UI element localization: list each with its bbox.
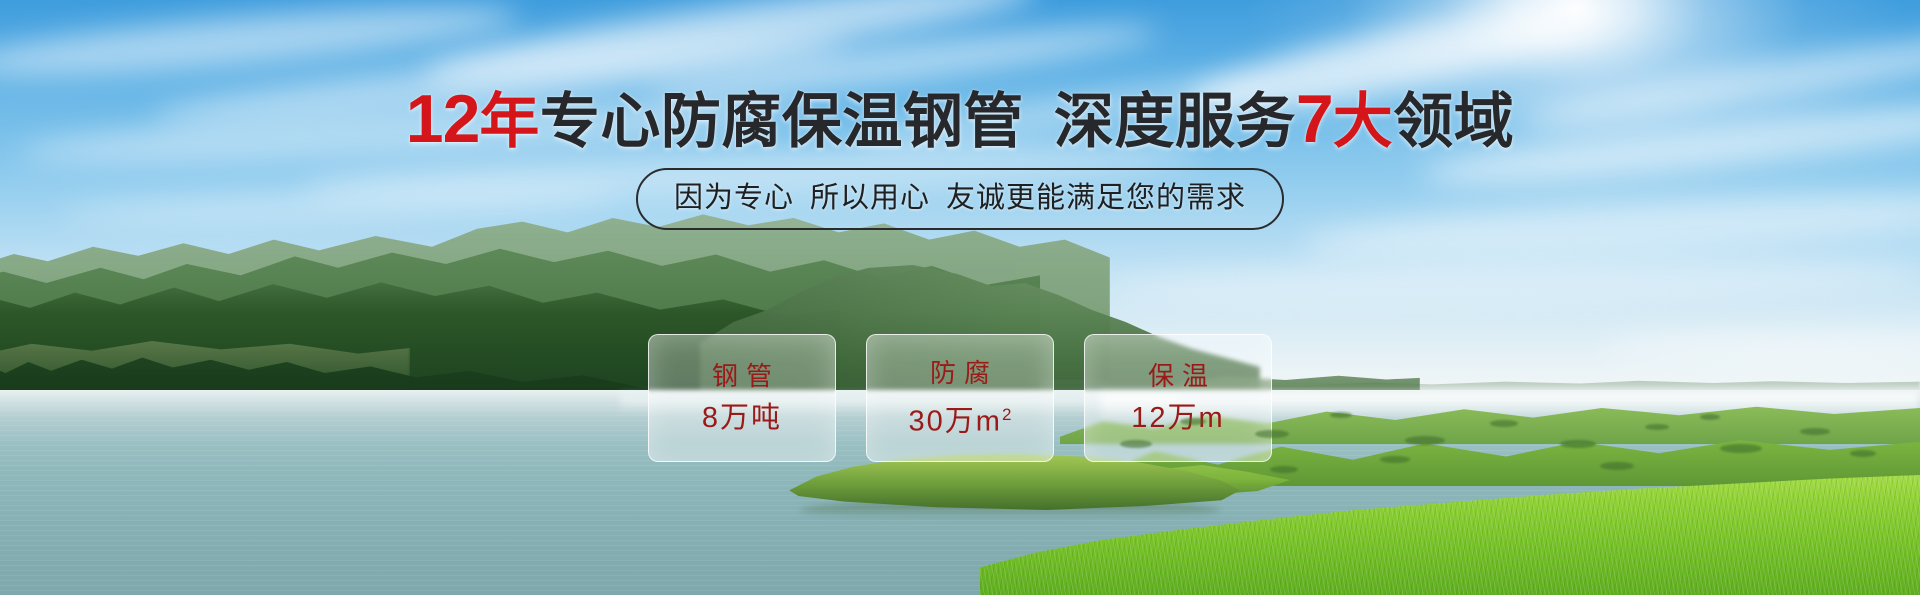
headline-service-phrase: 深度服务 [1054,88,1296,155]
hero-banner: 12年专心防腐保温钢管深度服务7大领域 因为专心所以用心友诚更能满足您的需求 钢… [0,0,1920,595]
wetland-tuft [1700,414,1720,420]
wetland-tuft [1405,436,1445,445]
subtitle-part-2: 所以用心 [810,182,930,214]
wetland-tuft [1255,430,1289,438]
wetland-tuft [1270,466,1298,473]
stat-card-value: 30万m2 [909,397,1012,440]
headline-fields-word: 领域 [1393,88,1514,155]
stat-card-steel-pipe[interactable]: 钢管 8万吨 [648,334,836,462]
stat-card-value-superscript: 2 [1002,405,1011,424]
subtitle-container: 因为专心所以用心友诚更能满足您的需求 [0,168,1920,230]
wetland-tuft [1120,440,1152,448]
stat-card-value: 8万吨 [702,400,782,436]
stat-card-insulation[interactable]: 保温 12万m [1084,334,1272,462]
wetland-tuft [1600,462,1634,470]
wetland-tuft [1800,428,1830,435]
stat-card-value-text: 30万m [909,405,1002,437]
stat-card-value: 12万m [1131,400,1224,436]
headline-fields-unit: 大 [1333,88,1394,155]
stat-cards: 钢管 8万吨 防腐 30万m2 保温 12万m [0,334,1920,462]
wetland-tuft [1850,450,1876,457]
wetland-tuft [1645,424,1669,430]
wetland-tuft [1330,412,1352,418]
stat-card-label: 保温 [1140,360,1216,392]
headline-fields-number: 7 [1296,81,1333,157]
wetland-tuft [1490,420,1518,427]
headline: 12年专心防腐保温钢管深度服务7大领域 [0,84,1920,157]
wetland-tuft [1720,444,1762,453]
subtitle-pill: 因为专心所以用心友诚更能满足您的需求 [636,168,1284,230]
subtitle-part-1: 因为专心 [674,182,794,214]
stat-card-value-text: 12万m [1131,402,1224,434]
stat-card-label: 钢管 [704,360,780,392]
stat-card-label: 防腐 [922,357,998,389]
wetland-tuft [1180,418,1206,425]
stat-card-value-text: 8万吨 [702,402,782,434]
headline-focus-phrase: 专心防腐保温钢管 [540,88,1024,155]
headline-years-number: 12 [406,81,480,157]
subtitle-part-3: 友诚更能满足您的需求 [946,182,1246,214]
headline-years-unit: 年 [479,88,540,155]
wetland-tuft [1380,456,1410,463]
wetland-tuft [1560,440,1596,448]
stat-card-anticorrosion[interactable]: 防腐 30万m2 [866,334,1054,462]
